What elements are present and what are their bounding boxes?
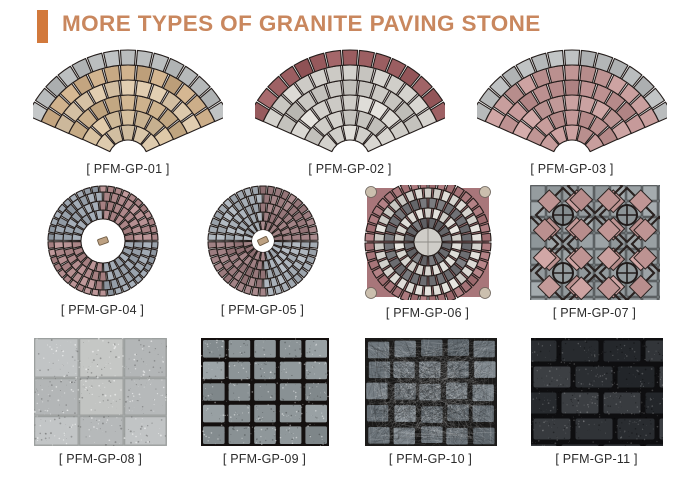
product-card-pfm-gp-04[interactable]: [ PFM-GP-04 ] (30, 185, 175, 317)
slab-offset-pattern-08 (34, 338, 167, 446)
product-caption-pfm-gp-09: [ PFM-GP-09 ] (192, 452, 337, 466)
product-image-pfm-gp-03 (477, 48, 667, 156)
fan-pattern-01 (33, 48, 223, 156)
cube-grid-rough-pattern-10 (365, 338, 497, 446)
product-image-pfm-gp-05 (203, 185, 323, 297)
product-image-pfm-gp-06 (363, 185, 493, 300)
product-caption-pfm-gp-01: [ PFM-GP-01 ] (28, 162, 228, 176)
catalog-row-1: [ PFM-GP-01 ] [ PFM-GP-02 ] [ PFM-GP-03 … (0, 48, 700, 178)
title-accent-bar (37, 10, 48, 43)
circle-ring-pattern-04 (43, 185, 163, 297)
product-card-pfm-gp-08[interactable]: [ PFM-GP-08 ] (28, 338, 173, 466)
product-card-pfm-gp-10[interactable]: [ PFM-GP-10 ] (358, 338, 503, 466)
product-image-pfm-gp-04 (43, 185, 163, 297)
page-header: MORE TYPES OF GRANITE PAVING STONE (0, 0, 700, 52)
product-caption-pfm-gp-03: [ PFM-GP-03 ] (472, 162, 672, 176)
product-image-pfm-gp-01 (33, 48, 223, 156)
product-caption-pfm-gp-10: [ PFM-GP-10 ] (358, 452, 503, 466)
product-image-pfm-gp-09 (201, 338, 329, 446)
product-image-pfm-gp-02 (255, 48, 445, 156)
product-image-pfm-gp-11 (531, 338, 663, 446)
brick-bond-pattern-11 (531, 338, 663, 446)
product-card-pfm-gp-02[interactable]: [ PFM-GP-02 ] (250, 48, 450, 176)
product-image-pfm-gp-07 (530, 185, 660, 300)
product-caption-pfm-gp-05: [ PFM-GP-05 ] (190, 303, 335, 317)
cube-grid-pattern-09 (201, 338, 329, 446)
product-card-pfm-gp-01[interactable]: [ PFM-GP-01 ] (28, 48, 228, 176)
circle-radial-pattern-05 (203, 185, 323, 297)
page-title: MORE TYPES OF GRANITE PAVING STONE (62, 11, 541, 37)
product-card-pfm-gp-07[interactable]: [ PFM-GP-07 ] (522, 185, 667, 320)
fan-pattern-02 (255, 48, 445, 156)
product-caption-pfm-gp-06: [ PFM-GP-06 ] (355, 306, 500, 320)
square-medallion-pattern-06 (363, 185, 493, 300)
product-caption-pfm-gp-08: [ PFM-GP-08 ] (28, 452, 173, 466)
product-card-pfm-gp-03[interactable]: [ PFM-GP-03 ] (472, 48, 672, 176)
catalog-row-3: [ PFM-GP-08 ] [ PFM-GP-09 ] [ PFM-GP-10 … (0, 338, 700, 488)
catalog-row-2: [ PFM-GP-04 ] [ PFM-GP-05 ] [ PFM-GP-06 … (0, 185, 700, 325)
product-card-pfm-gp-11[interactable]: [ PFM-GP-11 ] (524, 338, 669, 466)
diamond-lattice-pattern-07 (530, 185, 660, 300)
product-caption-pfm-gp-07: [ PFM-GP-07 ] (522, 306, 667, 320)
fan-pattern-03 (477, 48, 667, 156)
product-caption-pfm-gp-02: [ PFM-GP-02 ] (250, 162, 450, 176)
product-card-pfm-gp-09[interactable]: [ PFM-GP-09 ] (192, 338, 337, 466)
product-card-pfm-gp-06[interactable]: [ PFM-GP-06 ] (355, 185, 500, 320)
product-caption-pfm-gp-04: [ PFM-GP-04 ] (30, 303, 175, 317)
product-caption-pfm-gp-11: [ PFM-GP-11 ] (524, 452, 669, 466)
product-image-pfm-gp-10 (365, 338, 497, 446)
product-card-pfm-gp-05[interactable]: [ PFM-GP-05 ] (190, 185, 335, 317)
product-image-pfm-gp-08 (34, 338, 167, 446)
